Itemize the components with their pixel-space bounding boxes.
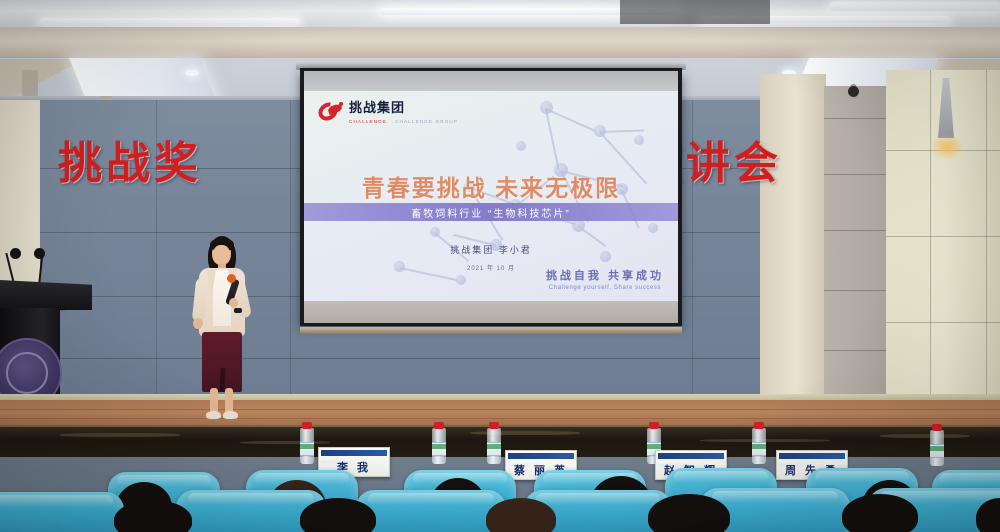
sconce-glow [930, 134, 964, 160]
projection-screen: 挑战集团 CHALLENGE CHALLENGE GROUP 青春要挑战 未来无… [300, 68, 682, 326]
presenter-shoe-left [206, 411, 221, 419]
tile-seam [986, 70, 987, 420]
slide-logo-en-red: CHALLENGE [349, 119, 387, 124]
water-bottle [487, 428, 501, 464]
podium-top [0, 280, 92, 310]
security-camera-icon [848, 86, 859, 97]
tile-seam [886, 322, 1000, 323]
audience-chair [356, 490, 506, 532]
screen-top-margin [304, 71, 678, 91]
presenter-face [213, 245, 230, 264]
slide-logo-cn: 挑战集团 [349, 100, 405, 115]
microphone-foam-head [227, 274, 236, 283]
audience-chair [0, 492, 124, 532]
lecture-hall-photo: 挑战奖 宣讲会 [0, 0, 1000, 532]
ceiling-strip-lamp [40, 18, 300, 25]
slide-presenter: 挑战集团 李小君 [304, 243, 678, 256]
slide-slogan: 挑战自我 共享成功 Challenge yourself, Share succ… [546, 267, 664, 291]
slide-logo-text: 挑战集团 CHALLENGE CHALLENGE GROUP [349, 99, 458, 124]
wall-panel-seam [40, 358, 760, 359]
projection-screen-surface: 挑战集团 CHALLENGE CHALLENGE GROUP 青春要挑战 未来无… [304, 71, 678, 323]
stage-edge-highlight [0, 425, 1000, 427]
microphone-head-icon [10, 248, 21, 259]
ceiling-beam [0, 27, 1000, 59]
water-bottle [930, 430, 944, 466]
presenter-shoe-right [223, 411, 238, 419]
audience-head [842, 494, 918, 532]
water-bottle [432, 428, 446, 464]
audience-head [486, 498, 556, 532]
ceiling-downlight [185, 70, 199, 76]
slide-title: 青春要挑战 未来无极限 [304, 169, 678, 203]
tile-seam [886, 236, 1000, 237]
audience-head [648, 494, 730, 532]
tile-seam [824, 118, 888, 119]
ceiling-shadow-patch [620, 0, 770, 24]
presenter-hand-left [193, 318, 203, 329]
slide-slogan-en: Challenge yourself, Share success [546, 285, 664, 291]
slide-subtitle-bar: 畜牧饲料行业 “生物科技芯片” [304, 203, 678, 221]
slide-slogan-cn: 挑战自我 共享成功 [546, 267, 664, 283]
tile-seam [824, 230, 888, 231]
audience-head [300, 498, 376, 532]
ceiling-strip-lamp [830, 2, 1000, 11]
tile-seam [824, 290, 888, 291]
wall-right-grey-panel [824, 86, 888, 416]
beam-bracket [22, 70, 38, 96]
presenter-wristwatch [234, 308, 242, 313]
presenter-hand-right [229, 298, 238, 308]
projector-screen-bottom-bar [300, 327, 682, 334]
audience-head [114, 500, 192, 532]
banner-text-left: 挑战奖 [58, 127, 202, 191]
presentation-slide: 挑战集团 CHALLENGE CHALLENGE GROUP 青春要挑战 未来无… [304, 91, 678, 307]
tile-seam [930, 70, 931, 420]
water-bottle [752, 428, 766, 464]
presenter-person [185, 236, 259, 420]
slide-logo-en-grey: CHALLENGE GROUP [395, 119, 458, 124]
wall-right-pillar [760, 74, 826, 414]
tile-seam [824, 174, 888, 175]
slide-logo: 挑战集团 CHALLENGE CHALLENGE GROUP [318, 99, 458, 124]
water-bottle [300, 428, 314, 464]
challenge-group-logo-icon [318, 102, 344, 121]
tile-seam [824, 350, 888, 351]
slide-subtitle: 畜牧饲料行业 “生物科技芯片” [411, 205, 570, 220]
microphone-head-icon [34, 248, 45, 259]
screen-bottom-margin [304, 301, 678, 323]
